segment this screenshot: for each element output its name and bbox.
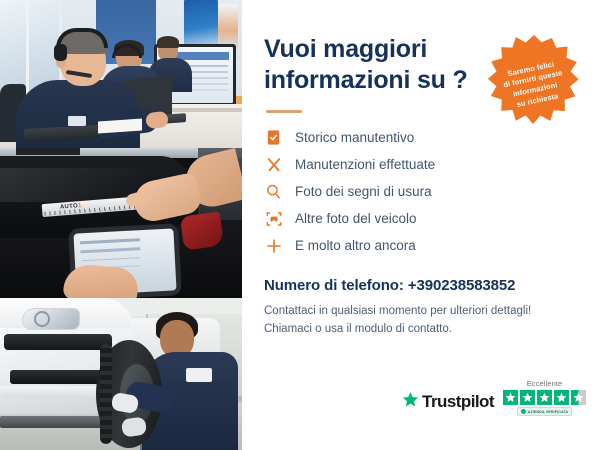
verified-check-icon: [521, 409, 526, 414]
list-item: Foto dei segni di usura: [264, 178, 580, 205]
trustpilot-wordmark: Trustpilot: [422, 392, 494, 412]
headline-line-2: informazioni su ?: [264, 66, 468, 94]
rating-star: [554, 390, 569, 405]
promo-banner: AUTO1 Vuoi maggiori informazioni su: [0, 0, 600, 450]
photo-column: AUTO1: [0, 0, 242, 450]
verified-company-badge: AZIENDA VERIFICATA: [517, 407, 573, 416]
contact-subtext-line-2: Chiamaci o usa il modulo di contatto.: [264, 323, 452, 335]
plus-icon: [264, 236, 283, 255]
feature-label: Storico manutentivo: [295, 130, 414, 145]
request-info-badge: Saremo felici di fornirti queste informa…: [484, 34, 584, 134]
trustpilot-widget[interactable]: Trustpilot Eccellente AZIENDA VERIFICATA: [402, 379, 586, 416]
list-item: Manutenzioni effettuate: [264, 151, 580, 178]
rating-star-partial: [571, 390, 586, 405]
rating-star: [520, 390, 535, 405]
trustpilot-rating-label: Eccellente: [527, 379, 563, 388]
list-item: E molto altro ancora: [264, 232, 580, 259]
feature-label: E molto altro ancora: [295, 238, 416, 253]
title-underline-rule: [266, 110, 302, 113]
mechanic-wheel-inspection-photo: [0, 298, 242, 450]
rating-star: [537, 390, 552, 405]
call-center-agent-photo: [0, 0, 242, 148]
feature-list: Storico manutentivo Manutenzioni effettu…: [264, 124, 580, 259]
car-scan-icon: [264, 209, 283, 228]
contact-subtext: Contattaci in qualsiasi momento per ulte…: [264, 303, 580, 339]
content-panel: Vuoi maggiori informazioni su ? Storico …: [242, 0, 600, 450]
trustpilot-logo: Trustpilot: [402, 391, 494, 416]
document-check-icon: [264, 128, 283, 147]
trustpilot-star-icon: [402, 391, 419, 413]
tools-cross-icon: [264, 155, 283, 174]
feature-label: Manutenzioni effettuate: [295, 157, 435, 172]
damage-measurement-tablet-photo: AUTO1: [0, 148, 242, 298]
trustpilot-star-rating: [503, 390, 586, 405]
feature-label: Altre foto del veicolo: [295, 211, 417, 226]
verified-label: AZIENDA VERIFICATA: [528, 410, 569, 414]
feature-label: Foto dei segni di usura: [295, 184, 432, 199]
list-item: Altre foto del veicolo: [264, 205, 580, 232]
rating-star: [503, 390, 518, 405]
phone-number-label: Numero di telefono: +390238583852: [264, 277, 580, 294]
magnifier-icon: [264, 182, 283, 201]
contact-subtext-line-1: Contattaci in qualsiasi momento per ulte…: [264, 305, 531, 317]
trustpilot-rating-block: Eccellente AZIENDA VERIFICATA: [503, 379, 586, 416]
headline-line-1: Vuoi maggiori: [264, 35, 427, 63]
